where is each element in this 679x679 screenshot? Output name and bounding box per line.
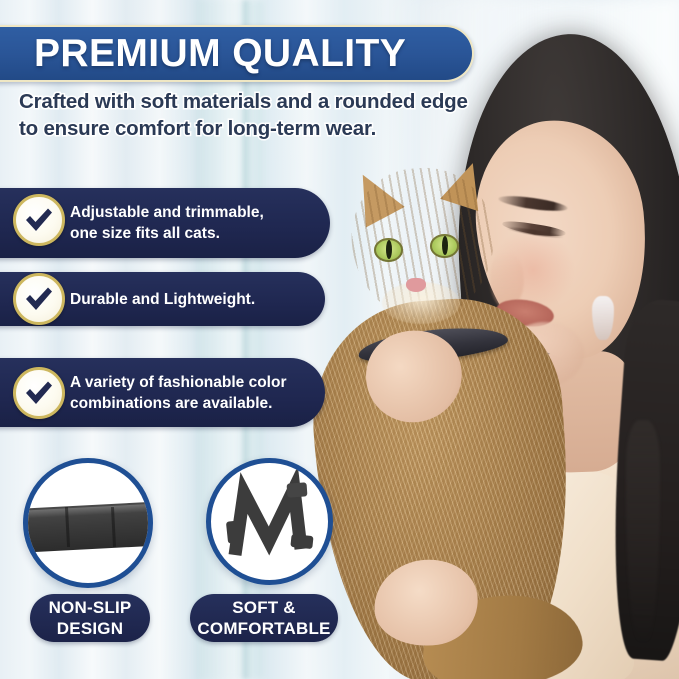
- subtitle-line-2: to ensure comfort for long-term wear.: [19, 115, 489, 142]
- feature-text-3: A variety of fashionable color combinati…: [70, 372, 286, 414]
- cat-pupil-left: [386, 240, 392, 259]
- cat-pupil-right: [442, 236, 448, 255]
- check-icon: [13, 367, 65, 419]
- subtitle: Crafted with soft materials and a rounde…: [19, 88, 489, 142]
- feature-text-1: Adjustable and trimmable, one size fits …: [70, 202, 264, 244]
- product-circle-non-slip: [23, 458, 153, 588]
- product-circle-label-1: NON-SLIP DESIGN: [30, 594, 150, 642]
- collar-m-shape-photo: [211, 463, 328, 580]
- feature-text-2: Durable and Lightweight.: [70, 289, 255, 310]
- check-icon: [13, 194, 65, 246]
- product-circle-soft-comfortable: [206, 458, 333, 585]
- check-icon: [13, 273, 65, 325]
- cat-nose: [406, 278, 426, 292]
- subtitle-line-1: Crafted with soft materials and a rounde…: [19, 88, 489, 115]
- product-circle-label-2: SOFT & COMFORTABLE: [190, 594, 338, 642]
- headline-banner: PREMIUM QUALITY: [0, 25, 474, 82]
- product-infographic: PREMIUM QUALITY Crafted with soft materi…: [0, 0, 679, 679]
- page-title: PREMIUM QUALITY: [34, 32, 406, 76]
